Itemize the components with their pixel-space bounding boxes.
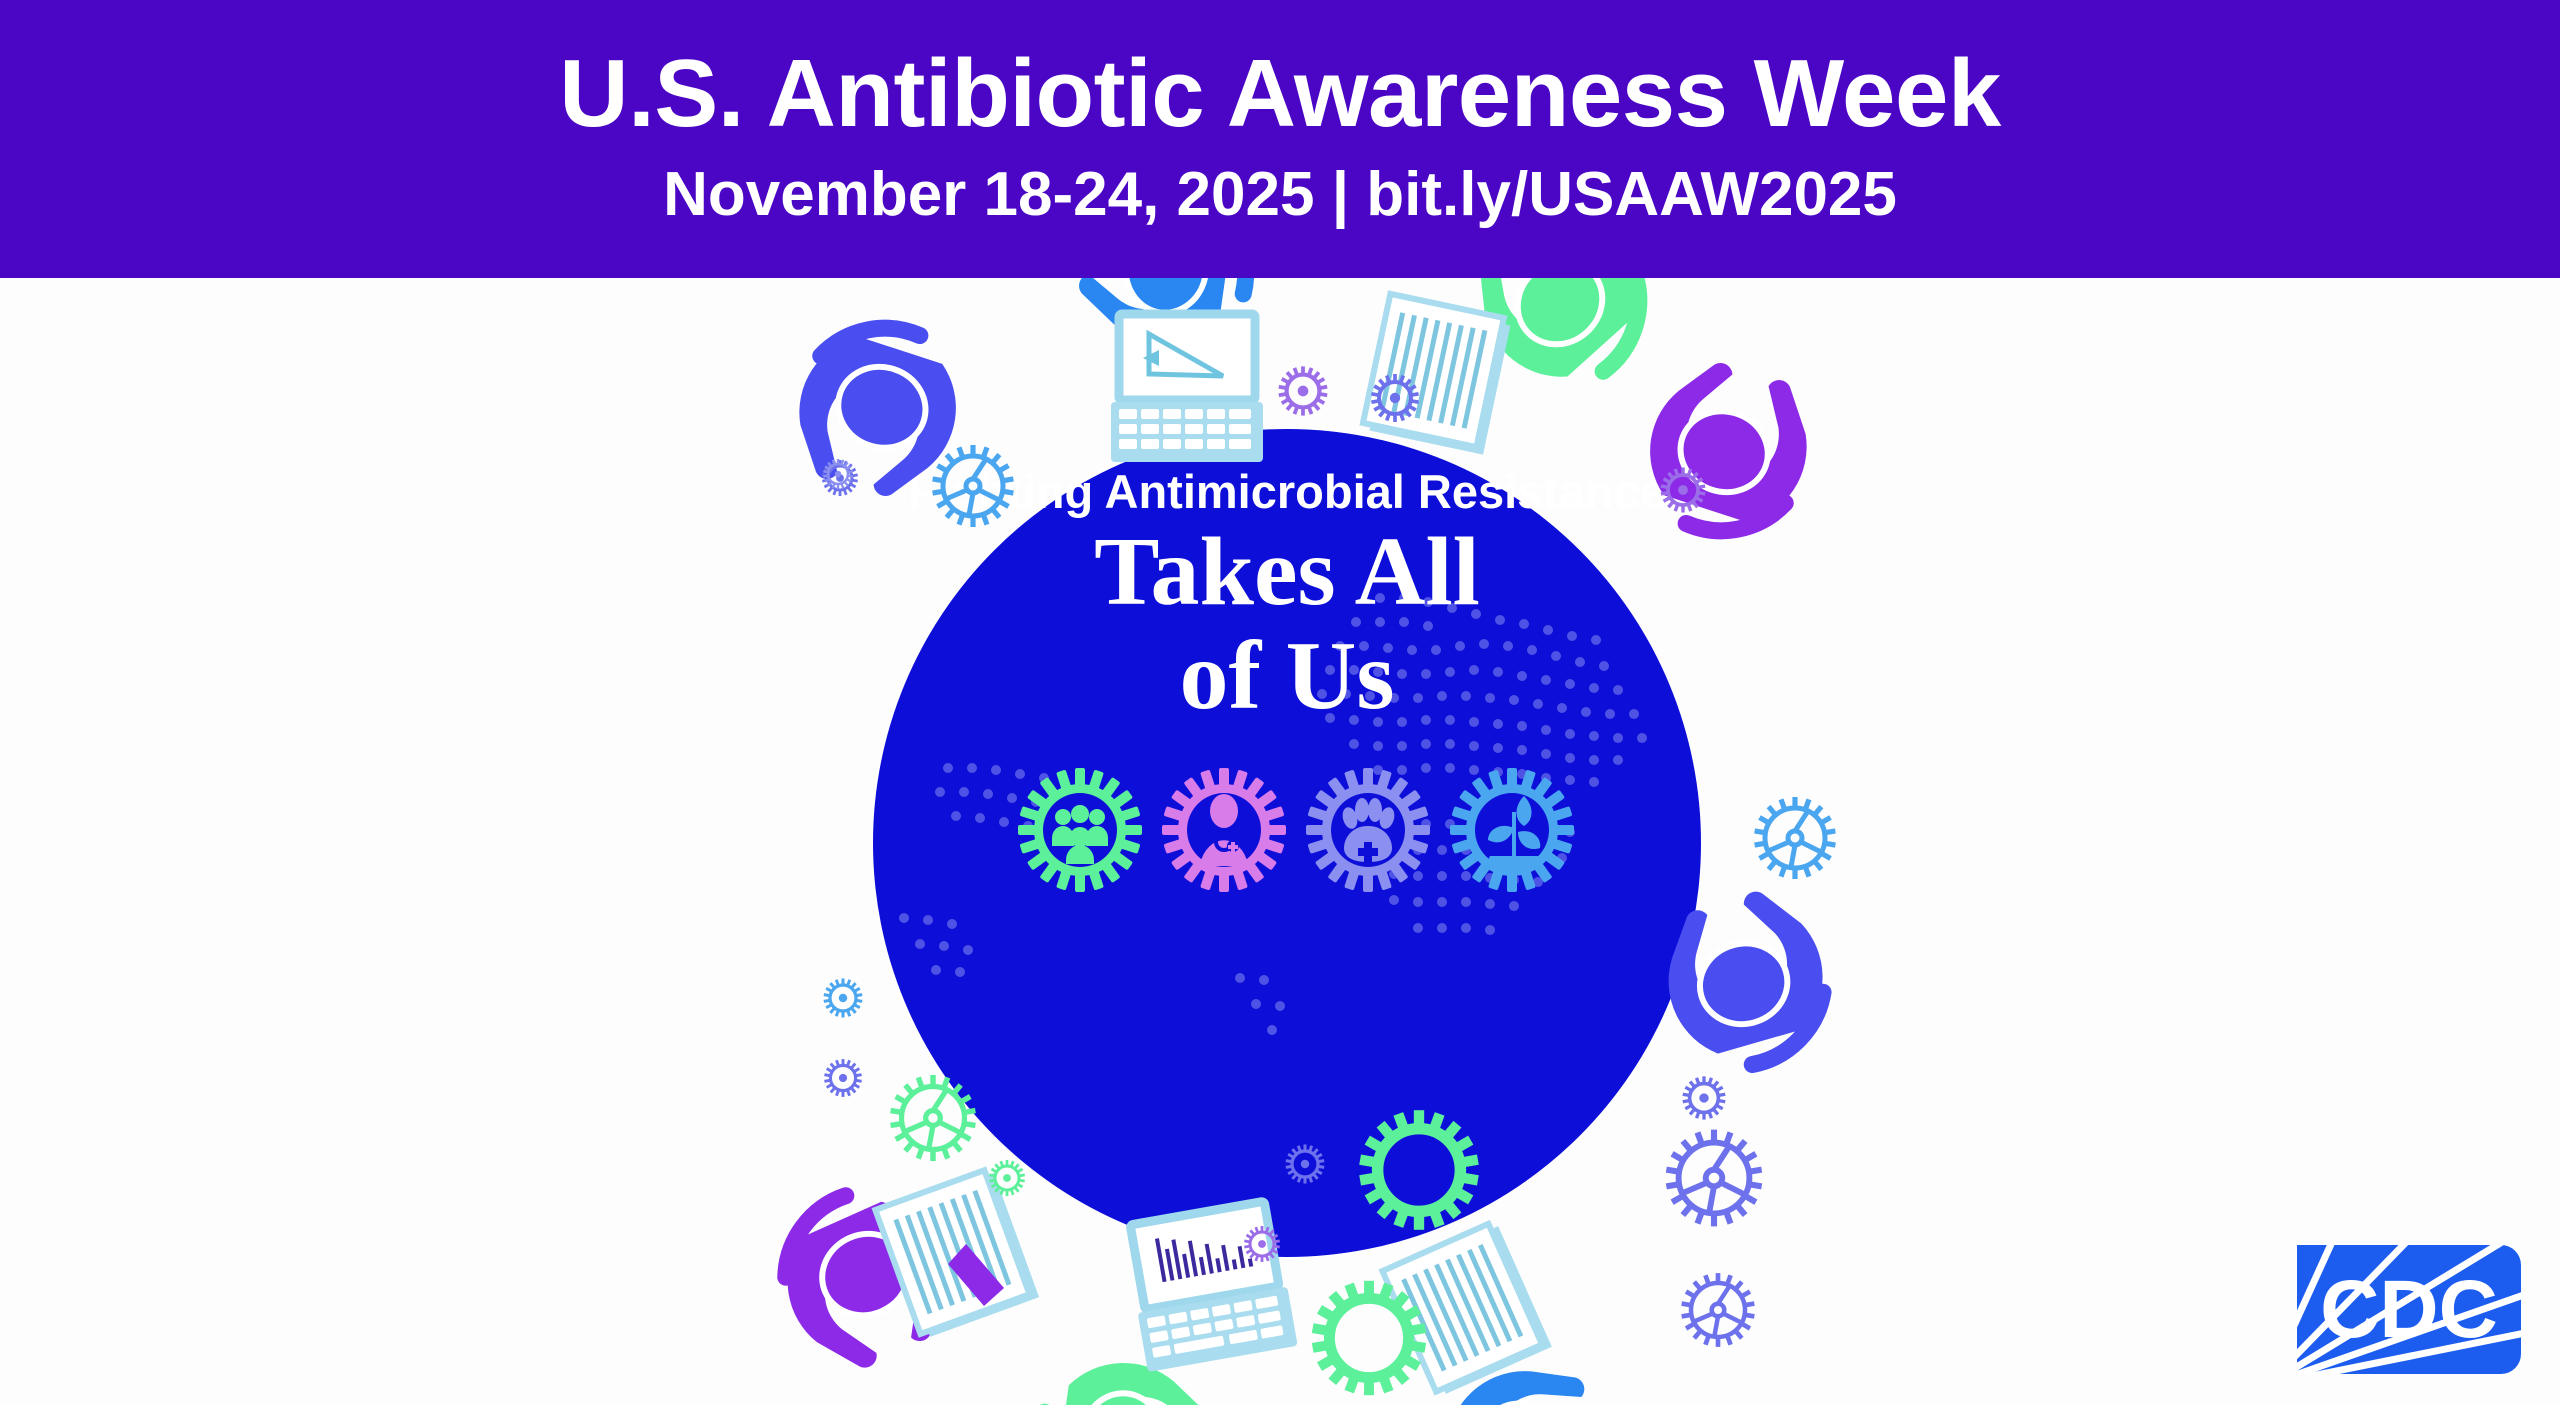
- gear-icon: [1661, 468, 1705, 513]
- cdc-logo-text: CDC: [2320, 1264, 2498, 1355]
- gear-icon: [824, 979, 862, 1018]
- header-banner: U.S. Antibiotic Awareness Week November …: [0, 0, 2560, 278]
- poster-root: U.S. Antibiotic Awareness Week November …: [0, 0, 2560, 1405]
- gear-icon: [989, 1160, 1024, 1196]
- gear-icon: [824, 1059, 861, 1097]
- gear-icon: [1683, 1076, 1725, 1119]
- person-right-upper: [1629, 347, 1828, 553]
- antimicrobial-resistance-illustration: Fighting Antimicrobial Resistance Takes …: [0, 278, 2560, 1405]
- person-top-left: [1071, 278, 1263, 462]
- page-title: U.S. Antibiotic Awareness Week: [559, 46, 2000, 142]
- gear-icon: [1286, 1145, 1324, 1184]
- document-top-right: [1362, 294, 1512, 455]
- gear-icon: [1371, 374, 1418, 422]
- laptop-arrow: [1111, 314, 1263, 462]
- person-top-right: [1362, 278, 1674, 455]
- document-bottom-right: [1382, 1221, 1551, 1398]
- gear-icon: [823, 459, 853, 489]
- gear-icon: [1279, 366, 1327, 415]
- gear-icon: [1244, 1226, 1279, 1262]
- gear-icon: [1313, 1281, 1426, 1395]
- page-subtitle: November 18-24, 2025 | bit.ly/USAAW2025: [663, 164, 1897, 226]
- laptop-chart: [1122, 1200, 1297, 1372]
- globe-headline-line2: of Us: [1179, 622, 1394, 730]
- person-left-lower: [759, 1168, 1039, 1386]
- globe-tagline: Fighting Antimicrobial Resistance: [908, 465, 1666, 518]
- gear-icon: [1682, 1273, 1755, 1347]
- gear-icon: [1755, 797, 1836, 879]
- illustration-stage: Fighting Antimicrobial Resistance Takes …: [0, 278, 2560, 1405]
- document-left-lower: [875, 1168, 1039, 1340]
- cdc-logo[interactable]: CDC: [2297, 1245, 2521, 1374]
- globe-headline-line1: Takes All: [1094, 518, 1480, 626]
- gear-icon: [1666, 1130, 1761, 1227]
